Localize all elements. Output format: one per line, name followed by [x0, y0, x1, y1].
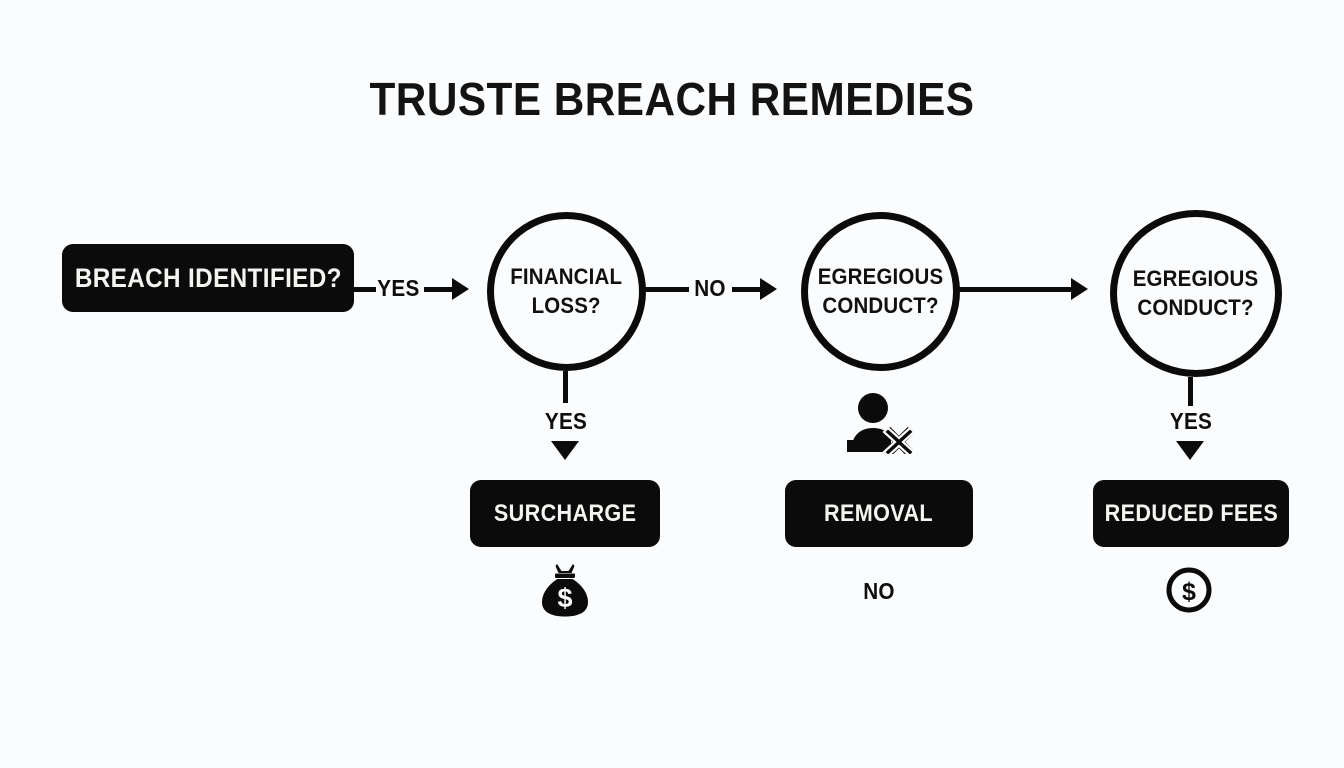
node-reduced-fees[interactable]: REDUCED FEES [1093, 480, 1289, 547]
arrow-right-icon [760, 278, 777, 300]
user-remove-icon [845, 392, 913, 454]
node-egregious-conduct-2-label-line2: CONDUCT? [1138, 294, 1254, 322]
edge-label-breach-to-financial: YES [377, 275, 418, 302]
dollar-coin-icon: $ [1165, 566, 1213, 614]
edge-breach-to-financial-line-left [354, 287, 376, 292]
edge-egregious2-to-reduced-fees-line [1188, 377, 1193, 406]
arrow-right-icon [452, 278, 469, 300]
edge-breach-to-financial-line-right [424, 287, 452, 292]
flowchart-canvas: TRUSTE BREACH REMEDIES BREACH IDENTIFIED… [0, 0, 1344, 768]
node-egregious-conduct-2-label-line1: EGREGIOUS [1133, 265, 1259, 293]
arrow-right-icon [1071, 278, 1088, 300]
svg-text:$: $ [1182, 578, 1196, 606]
edge-financial-to-surcharge-line [563, 371, 568, 403]
edge-label-egregious2-to-reduced-fees: YES [1168, 408, 1215, 435]
node-surcharge-label: SURCHARGE [494, 500, 636, 528]
node-egregious-conduct-1-label-line1: EGREGIOUS [818, 263, 944, 291]
node-removal-label: REMOVAL [825, 500, 934, 528]
node-breach-identified[interactable]: BREACH IDENTIFIED? [62, 244, 354, 312]
money-bag-icon: $ [539, 562, 591, 618]
node-financial-loss-label-line2: LOSS? [532, 292, 601, 320]
edge-label-financial-to-egregious1: NO [693, 275, 727, 302]
node-reduced-fees-label: REDUCED FEES [1104, 500, 1278, 528]
label-removal-no: NO [848, 578, 909, 605]
edge-egregious1-to-egregious2-line [959, 287, 1071, 292]
arrow-down-icon [551, 441, 579, 460]
svg-text:$: $ [557, 583, 572, 613]
edge-financial-to-egregious1-line-left [645, 287, 689, 292]
edge-financial-to-egregious1-line-right [732, 287, 760, 292]
node-financial-loss-label-line1: FINANCIAL [511, 263, 623, 291]
arrow-down-icon [1176, 441, 1204, 460]
page-title: TRUSTE BREACH REMEDIES [54, 72, 1290, 126]
node-egregious-conduct-2[interactable]: EGREGIOUS CONDUCT? [1110, 210, 1282, 377]
node-breach-identified-label: BREACH IDENTIFIED? [74, 263, 341, 294]
node-surcharge[interactable]: SURCHARGE [470, 480, 660, 547]
edge-label-financial-to-surcharge: YES [543, 408, 590, 435]
node-removal[interactable]: REMOVAL [785, 480, 973, 547]
node-financial-loss[interactable]: FINANCIAL LOSS? [487, 212, 646, 371]
node-egregious-conduct-1-label-line2: CONDUCT? [822, 292, 938, 320]
node-egregious-conduct-1[interactable]: EGREGIOUS CONDUCT? [801, 212, 960, 371]
